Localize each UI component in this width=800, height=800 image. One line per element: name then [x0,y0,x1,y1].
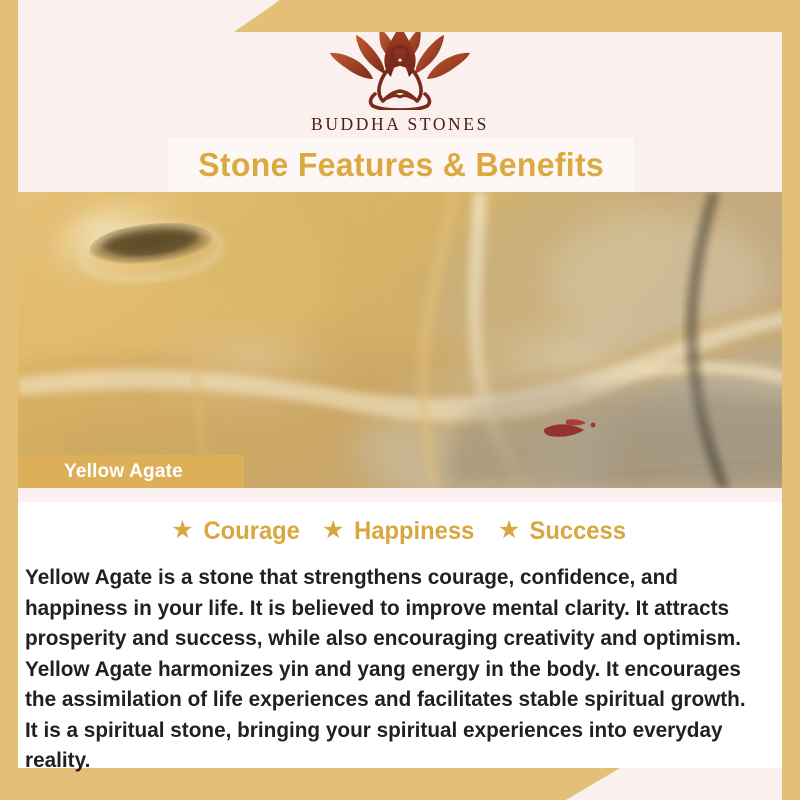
title-banner: Stone Features & Benefits [168,138,634,192]
benefit-label-happiness: Happiness [355,517,475,546]
stone-name-text: Yellow Agate [64,461,183,483]
stone-info-card: BUDDHA STONES Stone Features & Benefits [0,0,800,800]
stone-photo [18,192,800,488]
frame-decoration-left [0,0,18,800]
brand-name: BUDDHA STONES [311,114,489,135]
stone-name-label: Yellow Agate [18,455,244,488]
brand-logo: BUDDHA STONES [0,22,800,135]
benefit-label-success: Success [530,517,626,546]
benefit-item-happiness: ★ Happiness [322,517,478,546]
benefit-item-courage: ★ Courage [171,517,302,546]
star-icon: ★ [322,518,344,543]
card-top-strip [18,488,782,502]
frame-decoration-top [234,0,800,32]
yellow-agate-texture [18,192,800,488]
benefit-label-courage: Courage [203,517,299,546]
frame-decoration-right [782,0,800,800]
description-text: Yellow Agate is a stone that strengthens… [25,562,749,776]
page-title: Stone Features & Benefits [198,146,604,184]
benefit-item-success: ★ Success [498,517,629,546]
benefits-list: ★ Courage ★ Happiness ★ Success [18,517,782,546]
star-icon: ★ [171,518,193,543]
star-icon: ★ [498,518,520,543]
lotus-meditation-icon [315,22,485,110]
